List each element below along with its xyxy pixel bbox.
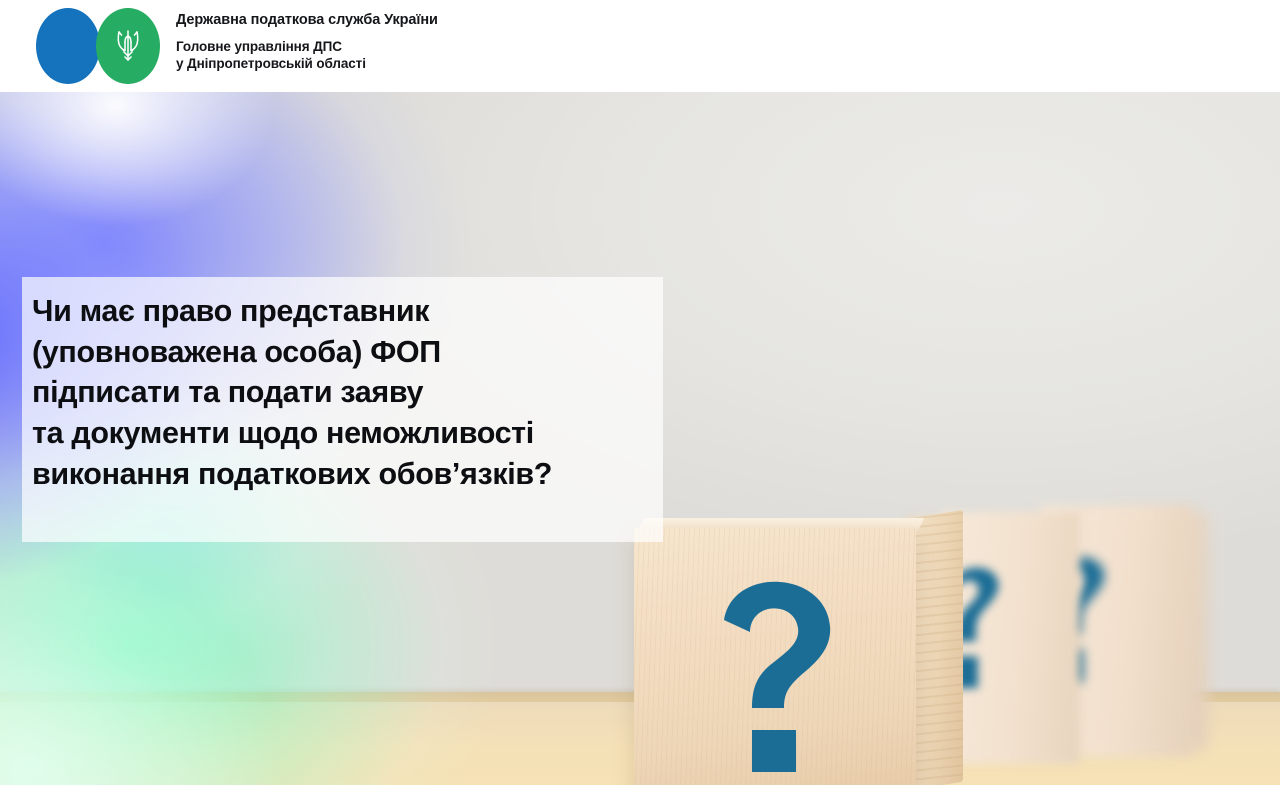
green-circle-icon xyxy=(96,8,160,84)
foreground-wooden-block xyxy=(634,518,934,785)
header-branding: Державна податкова служба України Головн… xyxy=(36,8,438,84)
organization-name: Державна податкова служба України xyxy=(176,12,438,29)
organization-unit-line-2: у Дніпропетровській області xyxy=(176,55,438,73)
headline-line-3: підписати та подати заяву xyxy=(32,372,647,413)
page-title: Чи має право представник (уповноважена о… xyxy=(32,291,647,495)
site-header: Державна податкова служба України Головн… xyxy=(0,0,1280,92)
organization-unit: Головне управління ДПС у Дніпропетровськ… xyxy=(176,38,438,74)
headline-line-1: Чи має право представник xyxy=(32,291,647,332)
header-text-block: Державна податкова служба України Головн… xyxy=(176,8,438,73)
headline-panel: Чи має право представник (уповноважена о… xyxy=(22,277,663,542)
block-front-face xyxy=(634,528,916,785)
headline-line-5: виконання податкових обов’язків? xyxy=(32,454,647,495)
logo xyxy=(36,8,168,84)
organization-unit-line-1: Головне управління ДПС xyxy=(176,38,438,56)
question-mark-icon xyxy=(712,580,840,776)
headline-line-2: (уповноважена особа) ФОП xyxy=(32,332,647,373)
banner-canvas: Державна податкова служба України Головн… xyxy=(0,0,1280,785)
ukrainian-trident-tryzub-icon xyxy=(113,27,143,65)
block-side-face xyxy=(911,510,963,785)
headline-line-4: та документи щодо неможливості xyxy=(32,413,647,454)
blue-circle-icon xyxy=(36,8,100,84)
banner-photo: Чи має право представник (уповноважена о… xyxy=(0,92,1280,785)
